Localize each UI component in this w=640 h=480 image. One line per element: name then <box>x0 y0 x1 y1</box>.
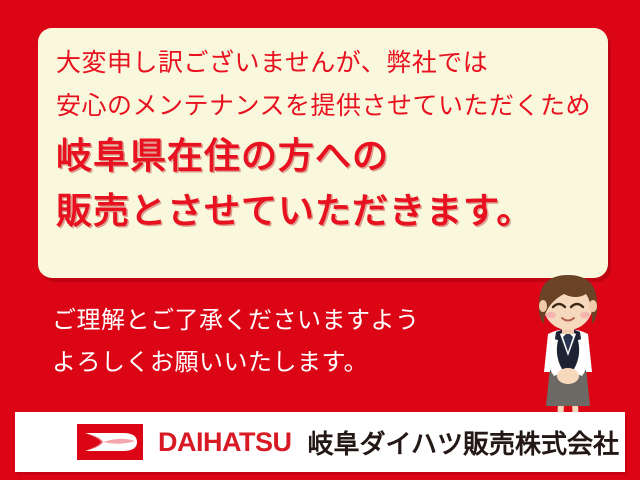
notice-line-3-emphasis: 岐阜県在住の方への <box>56 128 600 183</box>
request-line-1: ご理解とご了承くださいますよう <box>52 300 482 342</box>
notice-line-1: 大変申し訳ございませんが、弊社では <box>56 42 600 85</box>
notice-line-2: 安心のメンテナンスを提供させていただくため <box>56 85 600 128</box>
request-line-2: よろしくお願いいたします。 <box>52 342 482 384</box>
daihatsu-wordmark: DAIHATSU <box>158 427 292 458</box>
company-name: 岐阜ダイハツ販売株式会社 <box>308 424 619 461</box>
notice-panel: 大変申し訳ございませんが、弊社では 安心のメンテナンスを提供させていただくため … <box>38 28 608 278</box>
request-block: ご理解とご了承くださいますよう よろしくお願いいたします。 <box>52 300 482 384</box>
footer-band: DAIHATSU 岐阜ダイハツ販売株式会社 <box>15 412 625 472</box>
notice-poster: 大変申し訳ございませんが、弊社では 安心のメンテナンスを提供させていただくため … <box>0 0 640 480</box>
daihatsu-d-emblem-icon <box>77 424 143 460</box>
notice-line-4-emphasis: 販売とさせていただきます。 <box>56 183 600 238</box>
